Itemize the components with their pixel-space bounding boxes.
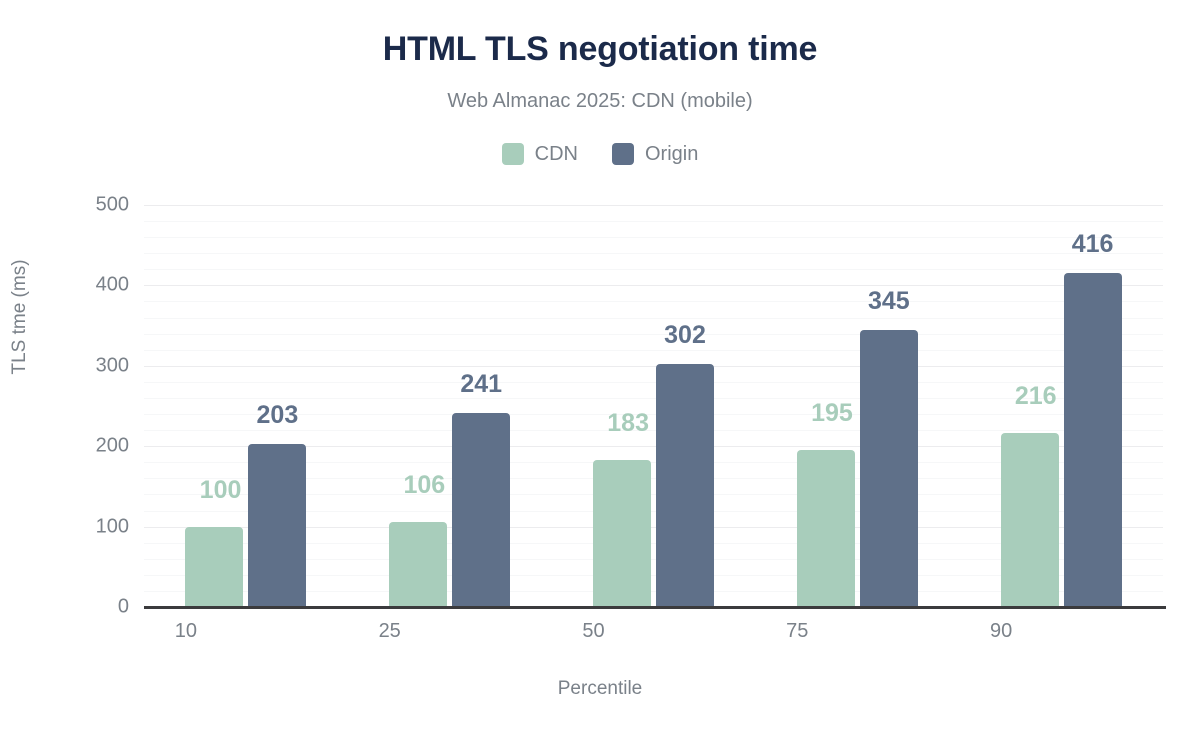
legend-swatch-origin	[612, 143, 634, 165]
gridline-minor	[144, 221, 1163, 222]
gridline-minor	[144, 253, 1163, 254]
bar-label-origin-p75: 345	[839, 287, 939, 316]
gridline-minor	[144, 301, 1163, 302]
x-axis-line	[144, 606, 1166, 609]
y-tick-label: 300	[9, 354, 129, 377]
bar-label-origin-p25: 241	[431, 370, 531, 399]
y-axis-title: TLS tme (ms)	[9, 187, 31, 447]
gridline-minor	[144, 237, 1163, 238]
y-tick-label: 200	[9, 435, 129, 458]
gridline-major	[144, 285, 1163, 286]
bar-label-cdn-p25: 106	[355, 471, 445, 500]
bar-label-origin-p90: 416	[1043, 230, 1143, 259]
bar-cdn-p50[interactable]	[593, 460, 651, 607]
y-tick-label: 500	[9, 194, 129, 217]
gridline-major	[144, 366, 1163, 367]
plot-area: 100203106241183302195345216416	[144, 205, 1163, 607]
gridline-minor	[144, 430, 1163, 431]
chart-container: HTML TLS negotiation time Web Almanac 20…	[0, 0, 1200, 742]
chart-title: HTML TLS negotiation time	[0, 30, 1200, 69]
x-tick-label-50: 50	[534, 620, 654, 643]
legend-label: CDN	[535, 143, 578, 165]
x-tick-label-75: 75	[737, 620, 857, 643]
y-tick-label: 100	[9, 515, 129, 538]
legend-swatch-cdn	[502, 143, 524, 165]
chart-subtitle: Web Almanac 2025: CDN (mobile)	[0, 90, 1200, 113]
x-tick-label-10: 10	[126, 620, 246, 643]
bar-origin-p25[interactable]	[452, 413, 510, 607]
bar-cdn-p10[interactable]	[185, 527, 243, 607]
bar-origin-p75[interactable]	[860, 330, 918, 607]
x-axis-title: Percentile	[0, 678, 1200, 700]
bar-label-origin-p10: 203	[227, 401, 327, 430]
legend-item-cdn[interactable]: CDN	[502, 143, 578, 165]
gridline-minor	[144, 318, 1163, 319]
bar-label-cdn-p90: 216	[967, 382, 1057, 411]
bar-origin-p90[interactable]	[1064, 273, 1122, 607]
bar-label-cdn-p75: 195	[763, 399, 853, 428]
chart-legend: CDNOrigin	[0, 143, 1200, 165]
bar-origin-p10[interactable]	[248, 444, 306, 607]
legend-item-origin[interactable]: Origin	[612, 143, 698, 165]
y-tick-label: 400	[9, 274, 129, 297]
bar-label-origin-p50: 302	[635, 321, 735, 350]
bar-cdn-p75[interactable]	[797, 450, 855, 607]
bar-label-cdn-p50: 183	[559, 409, 649, 438]
x-tick-label-90: 90	[941, 620, 1061, 643]
gridline-major	[144, 205, 1163, 206]
x-tick-label-25: 25	[330, 620, 450, 643]
y-tick-label: 0	[9, 596, 129, 619]
bar-label-cdn-p10: 100	[151, 476, 241, 505]
legend-label: Origin	[645, 143, 698, 165]
bar-origin-p50[interactable]	[656, 364, 714, 607]
gridline-minor	[144, 269, 1163, 270]
bar-cdn-p25[interactable]	[389, 522, 447, 607]
bar-cdn-p90[interactable]	[1001, 433, 1059, 607]
